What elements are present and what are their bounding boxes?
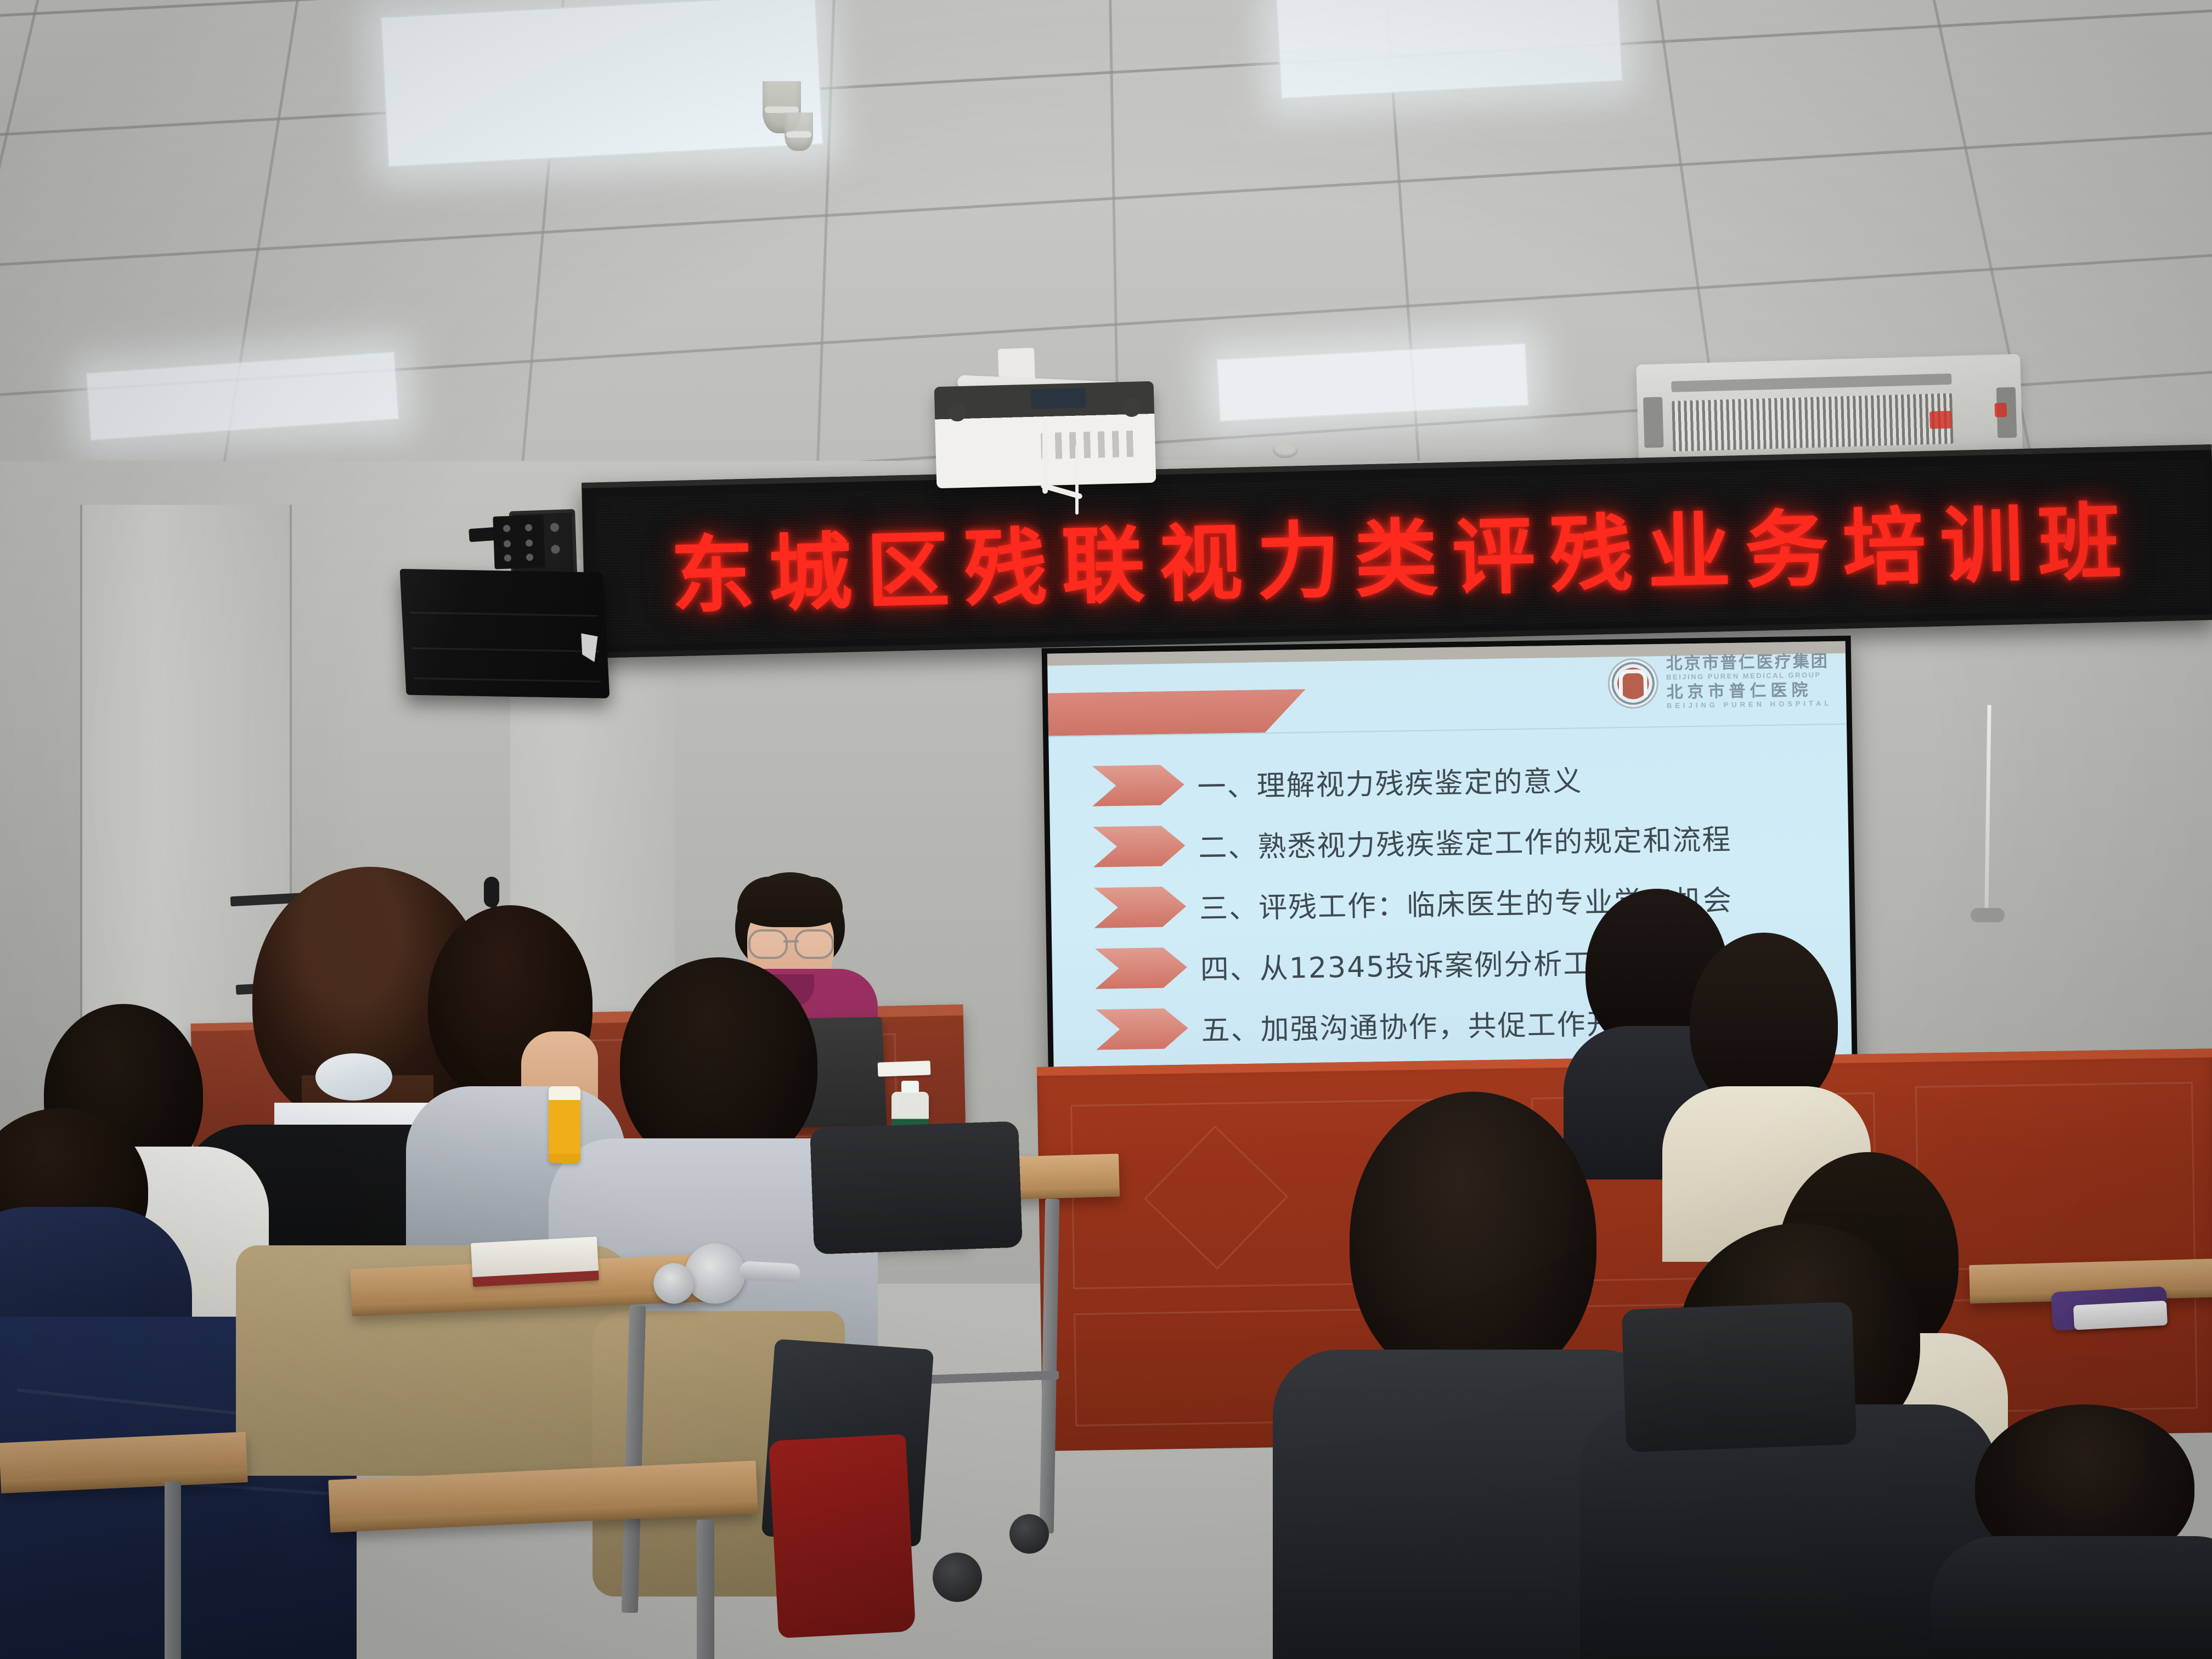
headphone-earcup — [684, 1242, 747, 1306]
glasses-icon — [748, 929, 834, 955]
chair-back[interactable] — [1622, 1302, 1857, 1452]
attendee-far-right-edge — [1953, 1404, 2212, 1659]
smoke-detector-icon — [1273, 442, 1298, 458]
logo-group-name-cn: 北京市普仁医疗集团 — [1666, 653, 1831, 673]
headphones[interactable] — [651, 1235, 786, 1302]
chevron-right-icon — [1094, 886, 1187, 928]
sprinkler-head-2 — [785, 112, 813, 151]
slide-bullet-item: 二、熟悉视力残疾鉴定工作的规定和流程 — [1093, 815, 1827, 867]
pointer-stick-base — [1971, 908, 2005, 922]
notebook[interactable] — [471, 1237, 599, 1287]
led-banner-text: 东城区残联视力类评残业务培训班 — [596, 472, 2209, 631]
slide-accent-banner — [1048, 689, 1306, 736]
classroom-photo-scene: 东城区残联视力类评残业务培训班 北京市普仁医疗集团 — [0, 0, 2212, 1659]
hospital-logo: 北京市普仁医疗集团 BEIJING PUREN MEDICAL GROUP 北京… — [1608, 653, 1832, 710]
slide-bullet-text: 二、熟悉视力残疾鉴定工作的规定和流程 — [1198, 816, 1732, 866]
chair-back[interactable] — [810, 1121, 1023, 1254]
orange-drink-bottle[interactable] — [549, 1086, 580, 1163]
attendee-head — [1350, 1092, 1596, 1388]
ceiling-panel-light-1 — [380, 0, 823, 167]
logo-group-name-en: BEIJING PUREN MEDICAL GROUP — [1666, 671, 1832, 681]
desk-caster-wheel — [933, 1553, 982, 1602]
projector-cable — [1042, 422, 1048, 494]
desk-leg — [165, 1481, 181, 1659]
chevron-right-icon — [1096, 1008, 1188, 1050]
chevron-right-icon — [1094, 947, 1187, 989]
speaker-logo-icon — [581, 633, 599, 662]
hair-scrunchie — [315, 1053, 392, 1101]
chevron-right-icon — [1093, 825, 1186, 867]
presenter-fringe — [737, 877, 843, 927]
smartphone[interactable] — [2073, 1301, 2168, 1330]
slide-bullet-item: 一、理解视力残疾鉴定的意义 — [1092, 754, 1826, 806]
slide-bullet-text: 一、理解视力残疾鉴定的意义 — [1197, 758, 1583, 805]
logo-hospital-name-en: BEIJING PUREN HOSPITAL — [1667, 699, 1832, 709]
red-garment — [769, 1434, 916, 1639]
desk-leg — [697, 1520, 714, 1659]
chevron-right-icon — [1092, 764, 1184, 806]
attendee-torso — [1931, 1536, 2212, 1659]
hospital-logo-mark-icon — [1608, 657, 1659, 708]
projector-lens-icon — [1031, 388, 1086, 409]
paper-stack — [878, 1060, 931, 1076]
logo-hospital-name-cn: 北京市普仁医院 — [1666, 682, 1832, 701]
attendee-center-back-bun — [1317, 1092, 1624, 1659]
speaker-wall-bracket — [493, 515, 545, 569]
led-matrix: 东城区残联视力类评残业务培训班 — [596, 459, 2210, 645]
wall-speaker — [400, 569, 610, 698]
projector-ports — [1041, 430, 1138, 459]
desk-caster-wheel — [1009, 1514, 1049, 1554]
headphone-band — [740, 1261, 801, 1283]
